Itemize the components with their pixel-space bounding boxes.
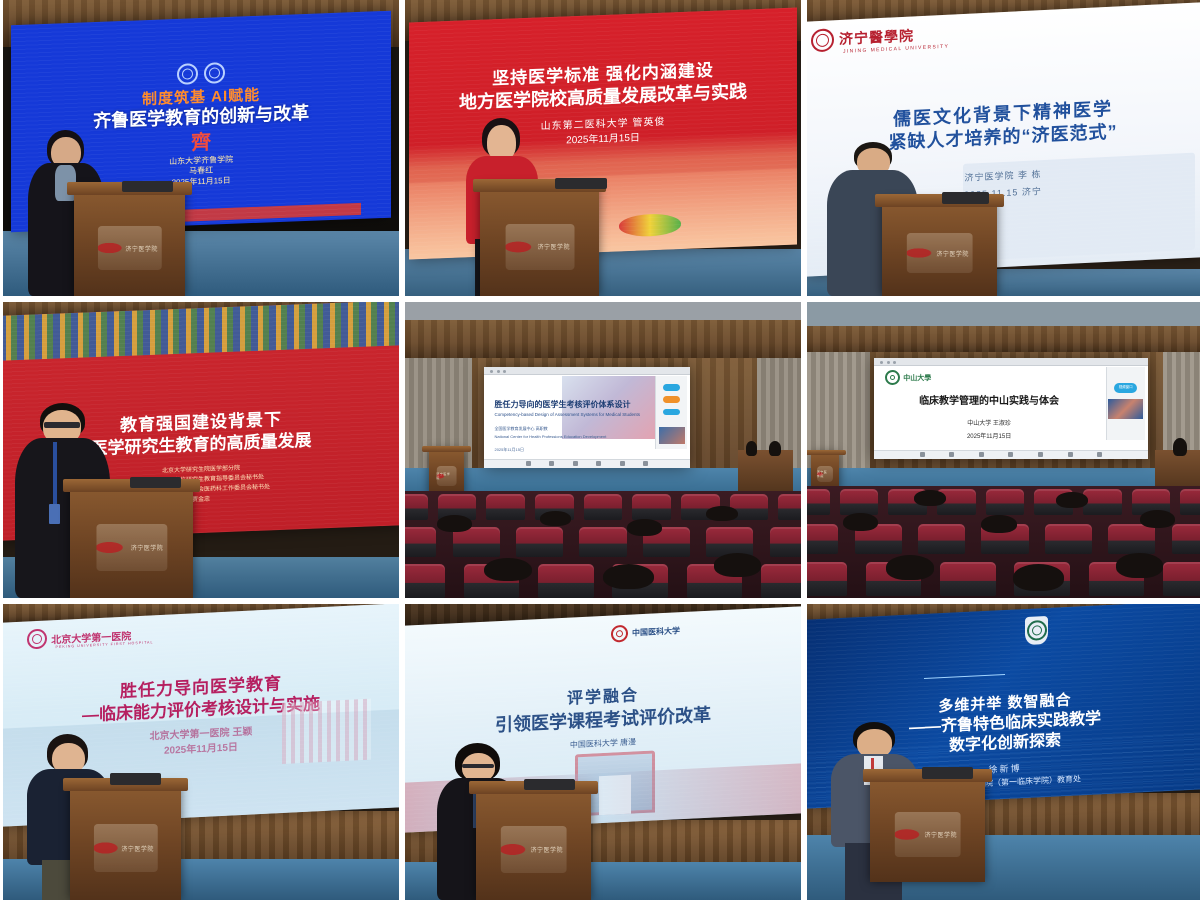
wall-wood-band [807, 326, 1200, 353]
slide-title: 引领医学课程考试评价改革 [495, 704, 711, 736]
microphone [942, 192, 990, 204]
seat [405, 564, 445, 598]
slide-content: 临床教学管理的中山实践与体会 中山大学 王淑珍 2025年11月15日 [902, 392, 1077, 440]
audience-head [843, 513, 879, 531]
meeting-chip-2[interactable] [663, 396, 680, 403]
meeting-chip-3[interactable] [663, 409, 680, 416]
seat [516, 527, 563, 557]
browser-dot-2 [497, 370, 500, 373]
seat [807, 562, 847, 596]
audience-head [540, 511, 572, 526]
head-table-person-1 [746, 441, 758, 456]
sun-yat-sen-university-emblem-icon [885, 370, 900, 385]
led-screen: 中山大學 临床教学管理的中山实践与体会 中山大学 王淑珍 2025年11月15日… [874, 358, 1147, 459]
seat [1180, 489, 1200, 515]
speaker-lanyard [53, 442, 57, 508]
audience-head [714, 553, 762, 576]
slide-line-1: 2025年11月15日 [902, 431, 1077, 440]
panel-6-auditorium-zhongshan-practice: 中山大學 临床教学管理的中山实践与体会 中山大学 王淑珍 2025年11月15日… [807, 302, 1200, 598]
microphone [555, 178, 606, 190]
podium: 济宁医学院 [882, 201, 997, 296]
wall-wood-band [405, 320, 801, 358]
podium: 济宁医学院 [70, 486, 193, 598]
slide-subtitle-en: Competency-based Design of Assessment Sy… [494, 412, 653, 417]
podium: 济宁医学院 [870, 776, 985, 883]
panel-3-jining-confucian-medicine: 济宁醫學院 JINING MEDICAL UNIVERSITY 儒医文化背景下精… [807, 0, 1200, 296]
microphone [122, 181, 173, 193]
speaker-glasses-icon [462, 764, 494, 769]
browser-dot-3 [503, 370, 506, 373]
seat [584, 494, 622, 520]
taskbar-icon[interactable] [643, 461, 648, 466]
browser-dot-1 [490, 370, 493, 373]
slide-line-0: 山东第二医科大学 管英俊 [541, 115, 666, 133]
slide-line-1: 2025年11月15日 [566, 132, 640, 148]
panel-2-local-medical-college-development: 坚持医学标准 强化内涵建设 地方医学院校高质量发展改革与实践 山东第二医科大学 … [405, 0, 801, 296]
podium: 济宁医学院 [480, 186, 599, 296]
podium-seal: 济宁医学院 [817, 466, 833, 482]
speaker-glasses-icon [44, 422, 80, 428]
podium-seal: 济宁医学院 [894, 812, 961, 857]
browser-toolbar[interactable] [484, 367, 690, 375]
panel-7-pku-first-hospital-clinical-assessment: 北京大学第一医院 PEKING UNIVERSITY FIRST HOSPITA… [3, 604, 399, 900]
podium-seal: 济宁医学院 [96, 524, 167, 571]
taskbar[interactable] [484, 459, 690, 468]
audience-head [1140, 510, 1176, 528]
podium-seal: 济宁医学院 [906, 233, 973, 273]
podium: 济宁医学院 [70, 785, 181, 900]
seat [807, 524, 838, 554]
seat [405, 527, 436, 557]
photo-collage-grid: 制度筑基 AI赋能 齐鲁医学教育的创新与改革 齊 山东大学齐鲁学院 马春红 20… [0, 0, 1200, 900]
seat [986, 489, 1024, 515]
head-table-person [1173, 438, 1187, 456]
speaker-badge [49, 504, 60, 524]
audience-head [437, 515, 473, 532]
taskbar-icon[interactable] [526, 461, 531, 466]
panel-4-graduate-medical-education: 教育强国建设背景下 医学研究生教育的高质量发展 北京大学研究生院医学部分院 全国… [3, 302, 399, 598]
meeting-badge[interactable]: 视频窗口 [1114, 383, 1137, 392]
meeting-side-panel[interactable] [655, 376, 687, 448]
microphone [110, 773, 161, 785]
slide-logo-block: 中山大學 [885, 370, 931, 385]
panel-9-qilu-digital-clinical-teaching: 多维并举 数智融合 ——齐鲁特色临床实践教学 数字化创新探索 徐新博 山东大学齐… [807, 604, 1200, 900]
audience-seating [405, 491, 801, 598]
qilu-medical-college-emblem-icon [204, 62, 225, 84]
meeting-side-panel[interactable]: 视频窗口 [1106, 367, 1145, 439]
seat [486, 494, 524, 520]
slide-headline: 评学融合 [567, 687, 639, 709]
taskbar-icon[interactable] [949, 452, 954, 457]
browser-dot-2 [887, 361, 890, 364]
seat [405, 494, 428, 520]
seat [1083, 489, 1121, 515]
taskbar-icon[interactable] [1038, 452, 1043, 457]
taskbar[interactable] [874, 450, 1147, 459]
slide-line-0: 北京大学研究生院医学部分院 [162, 465, 240, 476]
audience-head [914, 490, 946, 506]
audience-head [981, 515, 1017, 533]
panel-5-auditorium-competency-assessment: 胜任力导向的医学生考核评价体系设计 Competency-based Desig… [405, 302, 801, 598]
panel-8-cmu-course-exam-reform: 中国医科大学 评学融合 引领医学课程考试评价改革 中国医科大学 唐漫 18900… [405, 604, 801, 900]
podium-seal: 济宁医学院 [94, 824, 158, 872]
podium: 济宁医学院 [74, 189, 185, 296]
panel-1-qilu-medical-education: 制度筑基 AI赋能 齐鲁医学教育的创新与改革 齊 山东大学齐鲁学院 马春红 20… [3, 0, 399, 296]
podium: 济宁医学院 [429, 450, 465, 497]
slide-date: 2025年11月15日 [494, 447, 653, 453]
seat [1172, 524, 1200, 554]
meeting-video-thumb[interactable] [659, 427, 685, 444]
seat [940, 562, 996, 596]
podium-seal: 济宁医学院 [98, 226, 162, 271]
taskbar-icon[interactable] [979, 452, 984, 457]
slide-logos [177, 62, 225, 85]
audience-head [1056, 492, 1088, 508]
taskbar-icon[interactable] [596, 461, 601, 466]
microphone [922, 767, 973, 779]
seat [1108, 524, 1155, 554]
audience-head [706, 506, 738, 521]
slide-org-cn: 全国医学教育发展中心 高职教 [494, 426, 653, 432]
audience-head [1116, 553, 1164, 578]
seal-ornament-icon: 齊 [191, 132, 211, 153]
podium-seal: 济宁医学院 [500, 826, 567, 873]
seat-row [807, 489, 1200, 515]
seat [579, 527, 626, 557]
seat [918, 524, 965, 554]
taskbar-icon[interactable] [1008, 452, 1013, 457]
seat [778, 494, 801, 520]
taskbar-icon[interactable] [549, 461, 554, 466]
taskbar-icon[interactable] [573, 461, 578, 466]
audience-head [484, 558, 532, 581]
slide-line-0: 中山大学 王淑珍 [902, 418, 1077, 427]
slide-line-0: 中国医科大学 唐漫 [570, 737, 636, 751]
podium: 济宁医学院 [476, 788, 591, 900]
seat [706, 527, 753, 557]
podium-top [422, 446, 472, 452]
taskbar-icon[interactable] [620, 461, 625, 466]
audience-head [603, 564, 654, 590]
shandong-university-emblem-icon [177, 63, 198, 85]
meeting-chip-1[interactable] [663, 384, 680, 391]
taskbar-icon[interactable] [1068, 452, 1073, 457]
browser-toolbar[interactable] [874, 358, 1147, 366]
audience-seating [807, 486, 1200, 598]
audience-head [1013, 564, 1064, 591]
slide-building-columns [282, 699, 371, 765]
slide-line-3: 贾金忠 [192, 496, 210, 505]
seat [538, 564, 594, 598]
logo-text: 中山大學 [903, 373, 931, 383]
podium-seal: 济宁医学院 [436, 466, 457, 486]
taskbar-icon[interactable] [920, 452, 925, 457]
meeting-video-thumb[interactable] [1108, 399, 1143, 419]
microphone [524, 779, 575, 791]
seat [761, 564, 801, 598]
head-table [738, 450, 793, 497]
ceiling [807, 302, 1200, 326]
seat [1163, 562, 1200, 596]
slide-title: 临床教学管理的中山实践与体会 [902, 392, 1077, 407]
seat [840, 489, 878, 515]
seat [1045, 524, 1092, 554]
seat [807, 489, 830, 515]
browser-dot-1 [880, 361, 883, 364]
taskbar-icon[interactable] [1097, 452, 1102, 457]
podium-seal: 济宁医学院 [505, 224, 574, 270]
audience-head [627, 519, 663, 536]
podium-top [807, 450, 846, 455]
head-table-person-2 [769, 441, 781, 456]
slide-title: 胜任力导向的医学生考核评价体系设计 [494, 399, 653, 410]
led-screen: 胜任力导向的医学生考核评价体系设计 Competency-based Desig… [484, 367, 690, 468]
slide-title: 齐鲁医学教育的创新与改革 [93, 103, 309, 133]
seat [770, 527, 801, 557]
slide-content: 胜任力导向的医学生考核评价体系设计 Competency-based Desig… [494, 399, 653, 453]
microphone [130, 477, 181, 489]
seat [632, 494, 670, 520]
browser-dot-3 [893, 361, 896, 364]
audience-head [886, 555, 934, 580]
slide-org-en: National Center for Health Professions E… [494, 434, 653, 439]
ceiling [405, 302, 801, 320]
